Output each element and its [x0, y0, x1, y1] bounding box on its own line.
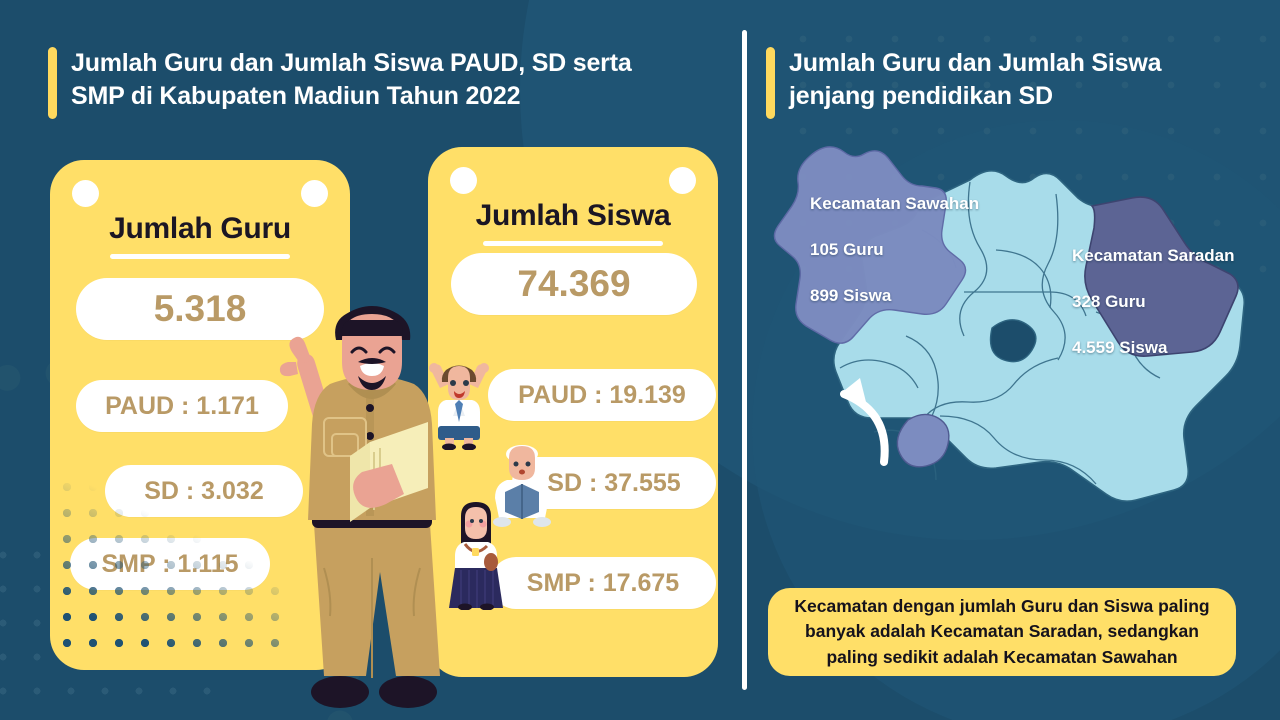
- map-label-sawahan-name: Kecamatan Sawahan: [810, 193, 979, 216]
- map-label-saradan: Kecamatan Saradan 328 Guru 4.559 Siswa: [1072, 222, 1235, 383]
- map-label-saradan-teachers: 328 Guru: [1072, 291, 1235, 314]
- map-label-saradan-name: Kecamatan Saradan: [1072, 245, 1235, 268]
- left-panel-title: Jumlah Guru dan Jumlah Siswa PAUD, SD se…: [48, 47, 708, 119]
- student-illustration-girl: [447, 500, 505, 610]
- map-label-sawahan-students: 899 Siswa: [810, 285, 979, 308]
- map-label-saradan-students: 4.559 Siswa: [1072, 337, 1235, 360]
- right-panel-title: Jumlah Guru dan Jumlah Siswa jenjang pen…: [766, 47, 1236, 119]
- card-title: Jumlah Guru: [50, 212, 350, 246]
- left-title-text: Jumlah Guru dan Jumlah Siswa PAUD, SD se…: [71, 47, 632, 112]
- panel-divider: [742, 30, 747, 690]
- stat-total-value: 74.369: [451, 253, 697, 315]
- card-hole-icon: [72, 180, 99, 207]
- stat-breakdown-smp: SMP : 17.675: [490, 557, 716, 609]
- map-region-sawahan-small: [897, 414, 949, 466]
- stat-breakdown-paud: PAUD : 19.139: [488, 369, 716, 421]
- stat-breakdown-smp: SMP : 1.115: [70, 538, 270, 590]
- title-accent-bar: [48, 47, 57, 119]
- card-hole-icon: [669, 167, 696, 194]
- card-hole-icon: [450, 167, 477, 194]
- stat-breakdown-paud: PAUD : 1.171: [76, 380, 288, 432]
- map-label-sawahan-teachers: 105 Guru: [810, 239, 979, 262]
- card-title: Jumlah Siswa: [428, 199, 718, 233]
- card-title-underline: [110, 254, 290, 259]
- card-hole-icon: [301, 180, 328, 207]
- map-label-sawahan: Kecamatan Sawahan 105 Guru 899 Siswa: [810, 170, 979, 331]
- infographic-canvas: Jumlah Guru dan Jumlah Siswa PAUD, SD se…: [0, 0, 1280, 720]
- title-accent-bar: [766, 47, 775, 119]
- right-title-text: Jumlah Guru dan Jumlah Siswa jenjang pen…: [789, 47, 1161, 112]
- student-illustration-boy-cheering: [428, 358, 490, 450]
- summary-caption: Kecamatan dengan jumlah Guru dan Siswa p…: [768, 588, 1236, 676]
- card-title-underline: [483, 241, 663, 246]
